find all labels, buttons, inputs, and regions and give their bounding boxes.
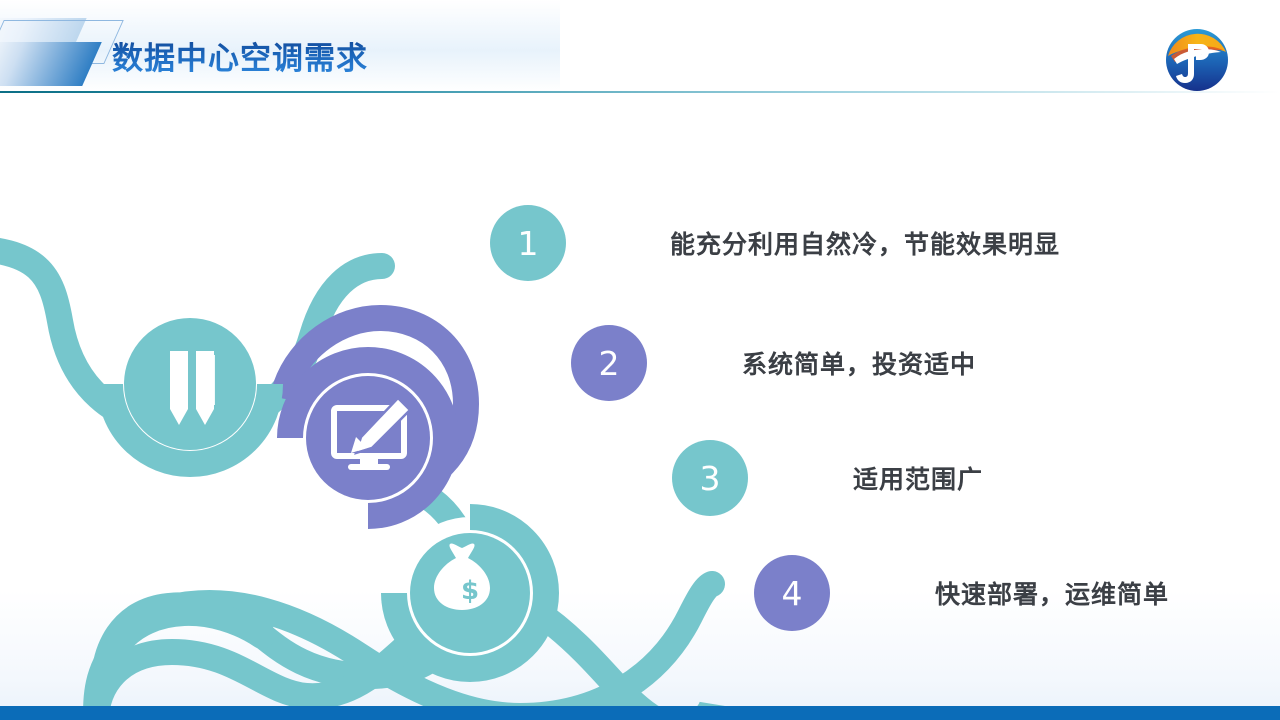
- point-number-circle-4[interactable]: 4: [754, 555, 830, 631]
- page-title: 数据中心空调需求: [112, 33, 368, 78]
- badge-pencils: [124, 318, 256, 450]
- decorative-ribbon-artwork: $: [0, 96, 780, 720]
- slide-header: 数据中心空调需求: [0, 0, 1280, 95]
- point-text-2: 系统简单，投资适中: [742, 345, 976, 381]
- point-text-1: 能充分利用自然冷，节能效果明显: [670, 225, 1060, 261]
- bottom-accent-bar: [0, 706, 1280, 720]
- header-divider: [0, 91, 1280, 93]
- svg-text:$: $: [461, 576, 479, 606]
- point-text-3: 适用范围广: [853, 460, 983, 496]
- point-row-4: 4 快速部署，运维简单: [754, 555, 1169, 631]
- point-row-3: 3 适用范围广: [672, 440, 983, 516]
- point-number-circle-1[interactable]: 1: [490, 205, 566, 281]
- point-number-circle-3[interactable]: 3: [672, 440, 748, 516]
- point-text-4: 快速部署，运维简单: [935, 575, 1169, 611]
- ribbon-svg: $: [0, 96, 780, 720]
- company-logo-icon: [1163, 26, 1231, 94]
- slide-canvas: 数据中心空调需求: [0, 0, 1280, 720]
- point-row-1: 1 能充分利用自然冷，节能效果明显: [490, 205, 1060, 281]
- company-logo: [1163, 26, 1231, 94]
- point-number-circle-2[interactable]: 2: [571, 325, 647, 401]
- point-row-2: 2 系统简单，投资适中: [571, 325, 976, 401]
